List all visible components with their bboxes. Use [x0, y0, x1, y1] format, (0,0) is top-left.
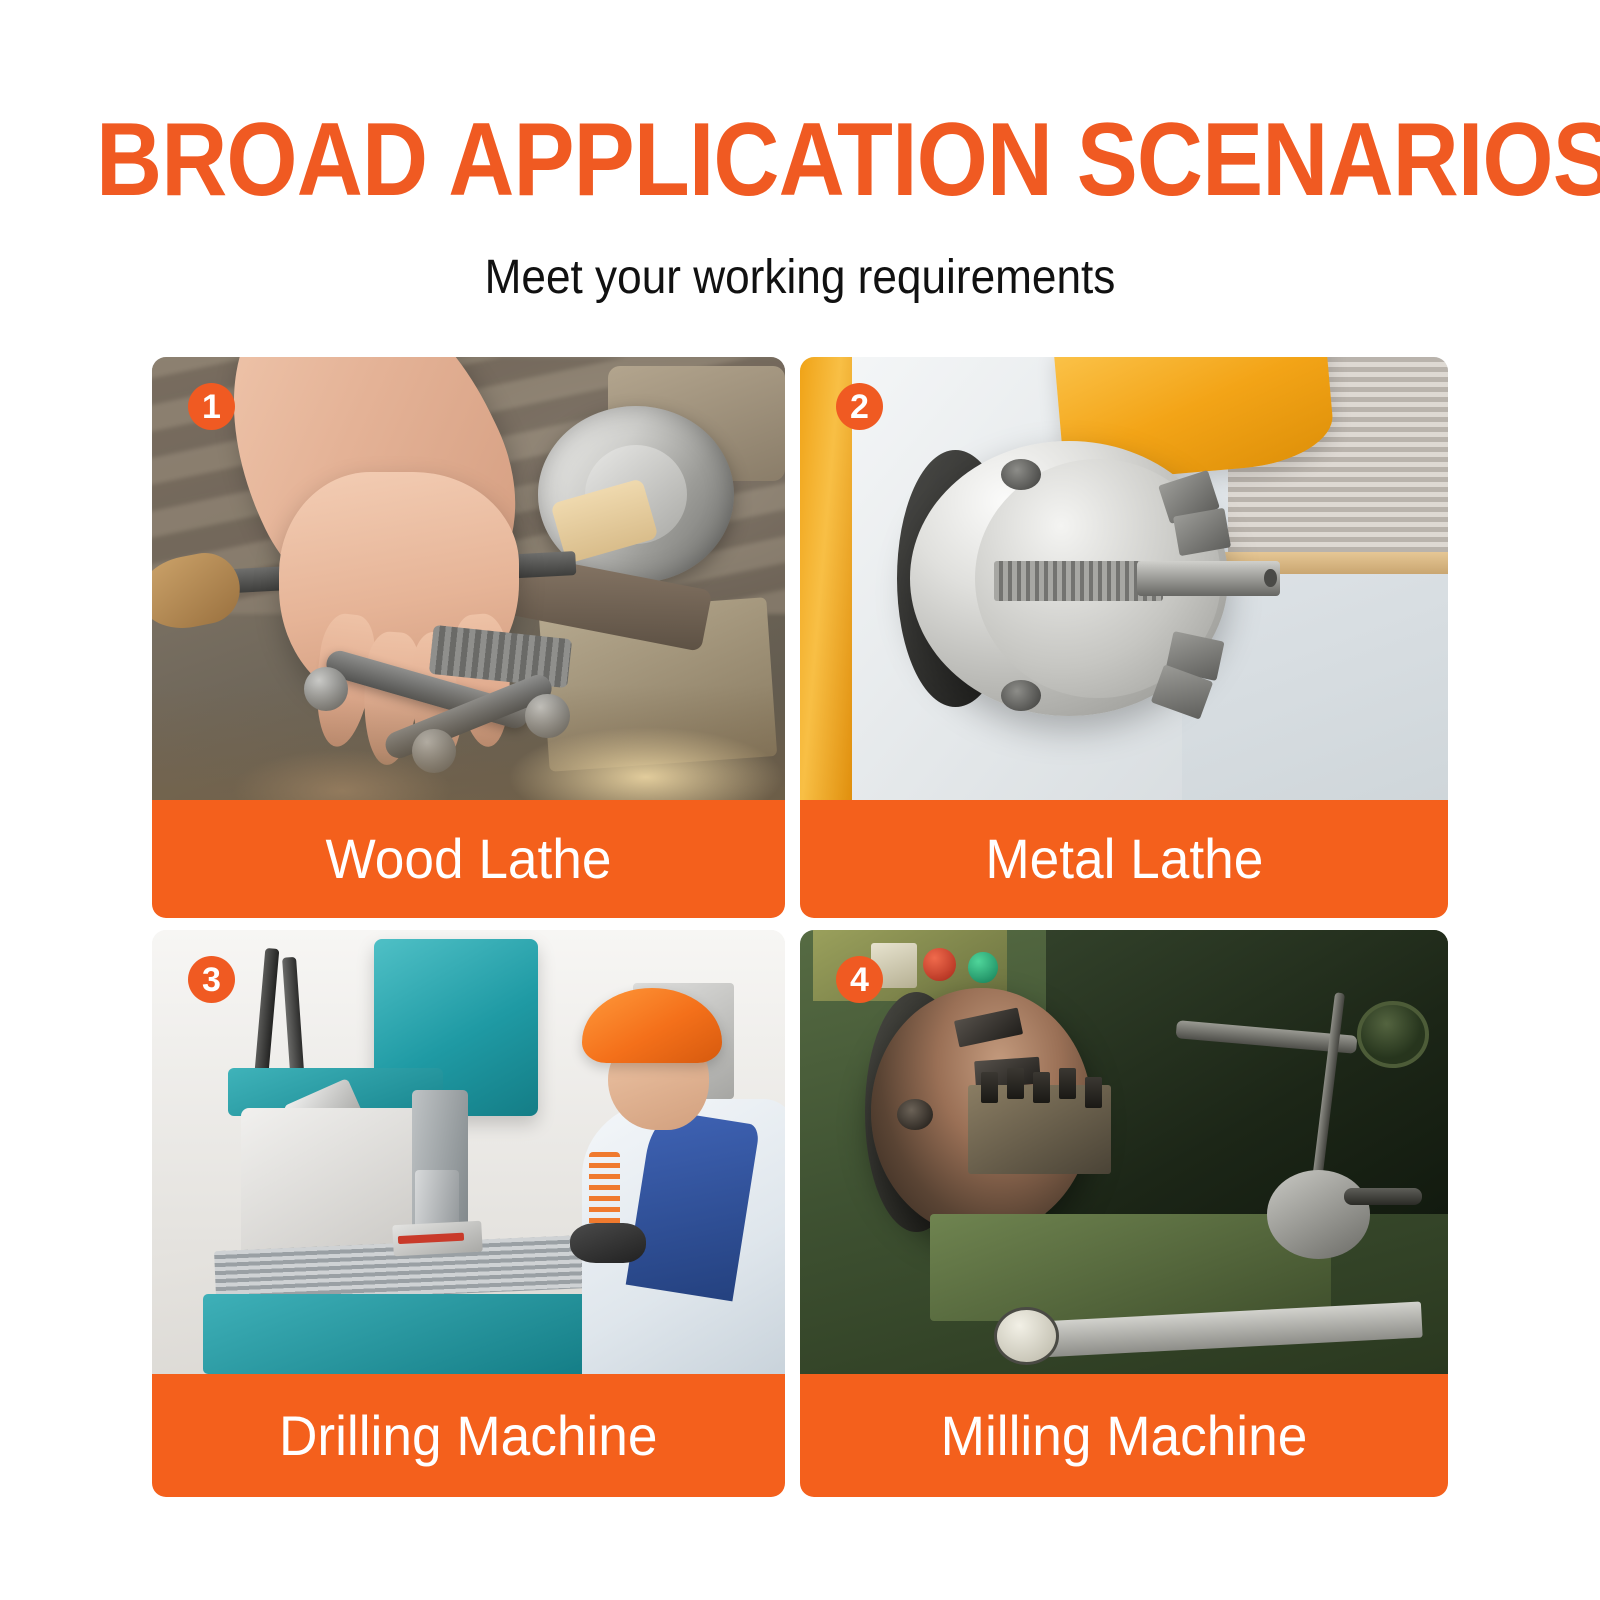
wood-shavings — [152, 685, 785, 800]
scenario-card-wood-lathe[interactable]: 1 Wood Lathe — [152, 357, 785, 918]
photo-milling-machine: 4 — [800, 930, 1448, 1374]
clamp-bolt — [981, 1072, 998, 1103]
card-label-bar: Metal Lathe — [800, 800, 1448, 918]
clamp-bolt — [1007, 1068, 1024, 1099]
step-badge-4: 4 — [836, 956, 883, 1003]
card-label-bar: Milling Machine — [800, 1374, 1448, 1497]
photo-metal-lathe: 2 — [800, 357, 1448, 800]
step-badge-3: 3 — [188, 956, 235, 1003]
card-label-bar: Wood Lathe — [152, 800, 785, 918]
scenario-card-drilling-machine[interactable]: 3 Drilling Machine — [152, 930, 785, 1497]
chuck-key-socket — [1001, 459, 1041, 490]
workpiece-vise — [392, 1221, 482, 1257]
card-label: Drilling Machine — [279, 1406, 657, 1466]
step-badge-2: 2 — [836, 383, 883, 430]
page-title: BROAD APPLICATION SCENARIOS — [96, 108, 1504, 212]
handwheel — [1357, 1001, 1428, 1068]
clamp-bolt — [1085, 1077, 1102, 1108]
page-subtitle: Meet your working requirements — [64, 252, 1536, 304]
chuck-bore — [897, 1099, 933, 1130]
step-badge-number: 2 — [850, 390, 869, 424]
worker-glove — [570, 1223, 646, 1263]
tailstock-handle — [1344, 1188, 1422, 1206]
scenario-card-milling-machine[interactable]: 4 Milling Machine — [800, 930, 1448, 1497]
step-badge-number: 1 — [202, 390, 221, 424]
dial-indicator — [994, 1307, 1059, 1365]
card-label: Wood Lathe — [326, 829, 612, 889]
workpiece-shaft — [1137, 561, 1280, 596]
infographic-page: BROAD APPLICATION SCENARIOS Meet your wo… — [0, 0, 1600, 1600]
stop-button — [923, 948, 955, 981]
photo-drilling-machine: 3 — [152, 930, 785, 1374]
clamp-bolt — [1059, 1068, 1076, 1099]
step-badge-number: 4 — [850, 963, 869, 997]
tailstock — [1267, 1170, 1371, 1259]
photo-wood-lathe: 1 — [152, 357, 785, 800]
scenario-card-metal-lathe[interactable]: 2 Metal Lathe — [800, 357, 1448, 918]
start-button — [968, 952, 997, 983]
card-label: Milling Machine — [941, 1406, 1308, 1466]
scenario-grid: 1 Wood Lathe — [152, 357, 1448, 1497]
step-badge-1: 1 — [188, 383, 235, 430]
step-badge-number: 3 — [202, 963, 221, 997]
clamp-bolt — [1033, 1072, 1050, 1103]
machine-base — [203, 1294, 621, 1374]
card-label: Metal Lathe — [985, 829, 1263, 889]
card-label-bar: Drilling Machine — [152, 1374, 785, 1497]
